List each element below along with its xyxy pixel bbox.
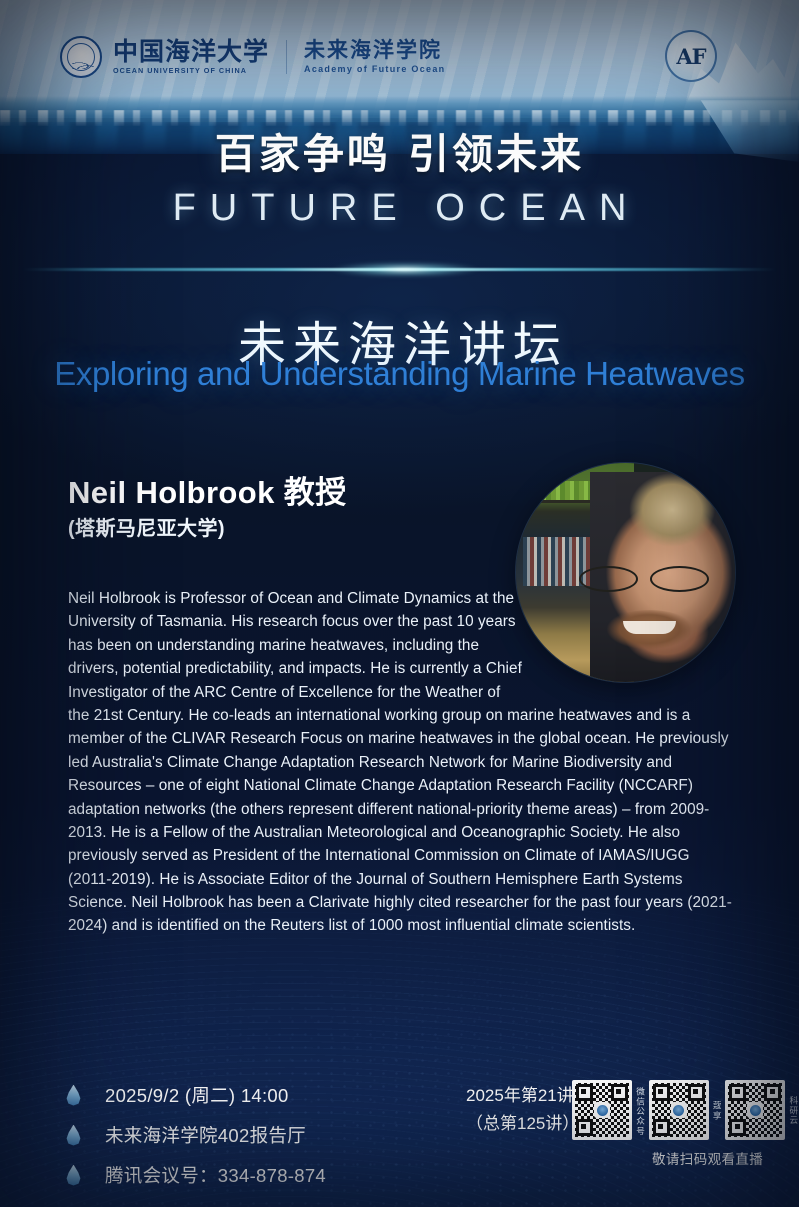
event-info-datetime: 2025/9/2 (周二) 14:00 xyxy=(66,1075,326,1115)
lecture-number-line2: （总第125讲） xyxy=(466,1110,579,1138)
qr-finder-icon xyxy=(653,1084,670,1101)
water-drop-icon xyxy=(66,1165,81,1186)
qr-unit-keyanyun[interactable]: 科研云 xyxy=(725,1080,799,1140)
glow-divider-core xyxy=(330,262,480,277)
qr-caption: 敬请扫码观看直播 xyxy=(652,1148,763,1168)
qr-finder-icon xyxy=(688,1084,705,1101)
qr-finder-icon xyxy=(764,1084,781,1101)
lecture-number: 2025年第21讲 （总第125讲） xyxy=(466,1082,579,1138)
qr-unit-wechat[interactable]: 微信公众号 xyxy=(572,1080,649,1140)
qr-finder-icon xyxy=(729,1119,746,1136)
event-info-list: 2025/9/2 (周二) 14:00 未来海洋学院402报告厅 腾讯会议号：3… xyxy=(66,1075,326,1195)
qr-finder-icon xyxy=(729,1084,746,1101)
page-title: Exploring and Understanding Marine Heatw… xyxy=(0,355,799,393)
qr-label-koushare: 蔻享 xyxy=(713,1099,722,1121)
hero-series-en: FUTURE OCEAN xyxy=(0,188,799,230)
qr-finder-icon xyxy=(576,1119,593,1136)
qr-code-wechat[interactable] xyxy=(572,1080,632,1140)
afo-logo-cn: 未来海洋学院 xyxy=(304,40,445,61)
ouc-seal-icon xyxy=(60,36,102,78)
afo-badge-icon: AF xyxy=(665,30,717,82)
event-venue-text: 未来海洋学院402报告厅 xyxy=(105,1122,306,1148)
ouc-logo-cn: 中国海洋大学 xyxy=(113,39,269,64)
event-meeting-text: 腾讯会议号：334-878-874 xyxy=(105,1162,326,1188)
hero-slogan-cn: 百家争鸣 引领未来 xyxy=(0,132,799,176)
qr-finder-icon xyxy=(611,1084,628,1101)
portrait-glasses xyxy=(573,566,718,588)
qr-center-logo-icon xyxy=(594,1102,610,1118)
event-info-venue: 未来海洋学院402报告厅 xyxy=(66,1115,326,1155)
qr-code-koushare[interactable] xyxy=(649,1080,709,1140)
speaker-bio: Neil Holbrook is Professor of Ocean and … xyxy=(68,587,734,938)
afo-badge-text: AF xyxy=(676,44,705,69)
ouc-logo-text: 中国海洋大学 OCEAN UNIVERSITY OF CHINA xyxy=(113,39,269,74)
logo-row: 中国海洋大学 OCEAN UNIVERSITY OF CHINA 未来海洋学院 … xyxy=(60,36,445,78)
hero-block: 百家争鸣 引领未来 FUTURE OCEAN xyxy=(0,132,799,230)
logo-divider xyxy=(286,40,287,74)
afo-logo-text: 未来海洋学院 Academy of Future Ocean xyxy=(304,40,445,74)
qr-label-wechat: 微信公众号 xyxy=(636,1085,645,1136)
qr-code-keyanyun[interactable] xyxy=(725,1080,785,1140)
poster: 中国海洋大学 OCEAN UNIVERSITY OF CHINA 未来海洋学院 … xyxy=(0,0,799,1207)
qr-finder-icon xyxy=(576,1084,593,1101)
lecture-number-line1: 2025年第21讲 xyxy=(466,1082,579,1110)
qr-finder-icon xyxy=(653,1119,670,1136)
water-drop-icon xyxy=(66,1125,81,1146)
ouc-logo-en: OCEAN UNIVERSITY OF CHINA xyxy=(113,67,269,74)
bio-photo-wrap-spacer xyxy=(524,587,734,691)
afo-logo-en: Academy of Future Ocean xyxy=(304,65,445,74)
qr-code-group: 微信公众号 蔻享 科研云 xyxy=(572,1080,799,1140)
event-info-meeting: 腾讯会议号：334-878-874 xyxy=(66,1155,326,1195)
water-drop-icon xyxy=(66,1085,81,1106)
qr-center-logo-icon xyxy=(671,1102,687,1118)
qr-label-keyanyun: 科研云 xyxy=(789,1094,798,1125)
qr-center-logo-icon xyxy=(747,1102,763,1118)
qr-unit-koushare[interactable]: 蔻享 xyxy=(649,1080,726,1140)
speaker-affiliation: (塔斯马尼亚大学) xyxy=(68,512,225,541)
speaker-name: Neil Holbrook 教授 xyxy=(68,467,347,512)
event-datetime-text: 2025/9/2 (周二) 14:00 xyxy=(105,1082,289,1108)
